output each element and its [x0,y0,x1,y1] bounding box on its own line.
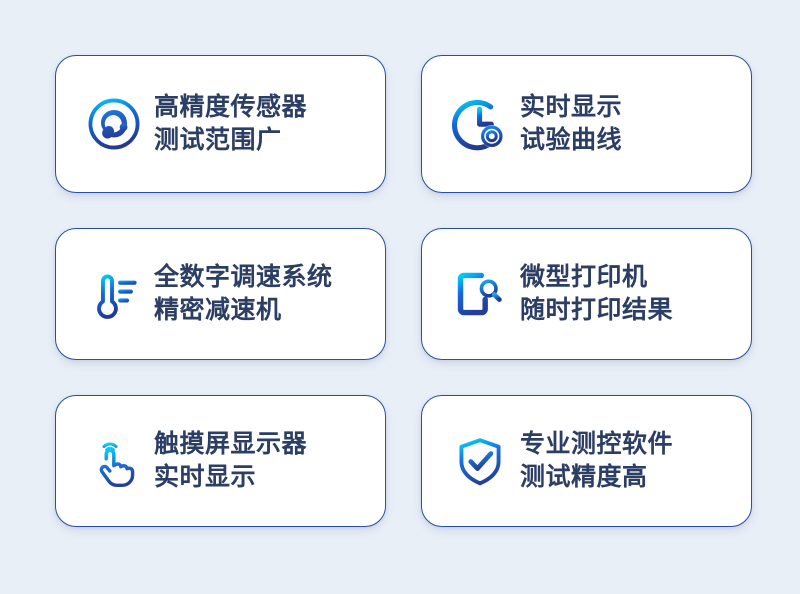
feature-card-6-line2: 测试精度高 [520,461,741,494]
clock-with-target-icon [444,95,516,153]
feature-card-2-line1: 实时显示 [520,91,741,124]
feature-card-4-text: 微型打印机 随时打印结果 [516,261,751,327]
feature-card-3-line2: 精密减速机 [154,294,375,327]
shield-check-icon [444,432,516,490]
thermometer-with-bars-icon [78,265,150,323]
feature-card-6-text: 专业测控软件 测试精度高 [516,428,751,494]
feature-card-1-line1: 高精度传感器 [154,91,375,124]
touch-hand-icon [78,432,150,490]
feature-card-6-line1: 专业测控软件 [520,428,741,461]
feature-card-4[interactable]: 微型打印机 随时打印结果 [421,228,752,360]
feature-card-3[interactable]: 全数字调速系统 精密减速机 [55,228,386,360]
feature-card-4-line1: 微型打印机 [520,261,741,294]
document-magnifier-icon [444,265,516,323]
feature-card-1-line2: 测试范围广 [154,124,375,157]
feature-card-4-line2: 随时打印结果 [520,294,741,327]
feature-card-5-text: 触摸屏显示器 实时显示 [150,428,385,494]
feature-card-3-line1: 全数字调速系统 [154,261,375,294]
feature-card-5-line2: 实时显示 [154,461,375,494]
feature-card-grid: 高精度传感器 测试范围广 [55,55,752,530]
headset-in-circle-icon [78,95,150,153]
feature-card-5-line1: 触摸屏显示器 [154,428,375,461]
feature-card-2-text: 实时显示 试验曲线 [516,91,751,157]
feature-card-6[interactable]: 专业测控软件 测试精度高 [421,395,752,527]
feature-card-1-text: 高精度传感器 测试范围广 [150,91,385,157]
feature-card-1[interactable]: 高精度传感器 测试范围广 [55,55,386,193]
feature-card-3-text: 全数字调速系统 精密减速机 [150,261,385,327]
feature-card-2[interactable]: 实时显示 试验曲线 [421,55,752,193]
feature-card-2-line2: 试验曲线 [520,124,741,157]
feature-card-5[interactable]: 触摸屏显示器 实时显示 [55,395,386,527]
